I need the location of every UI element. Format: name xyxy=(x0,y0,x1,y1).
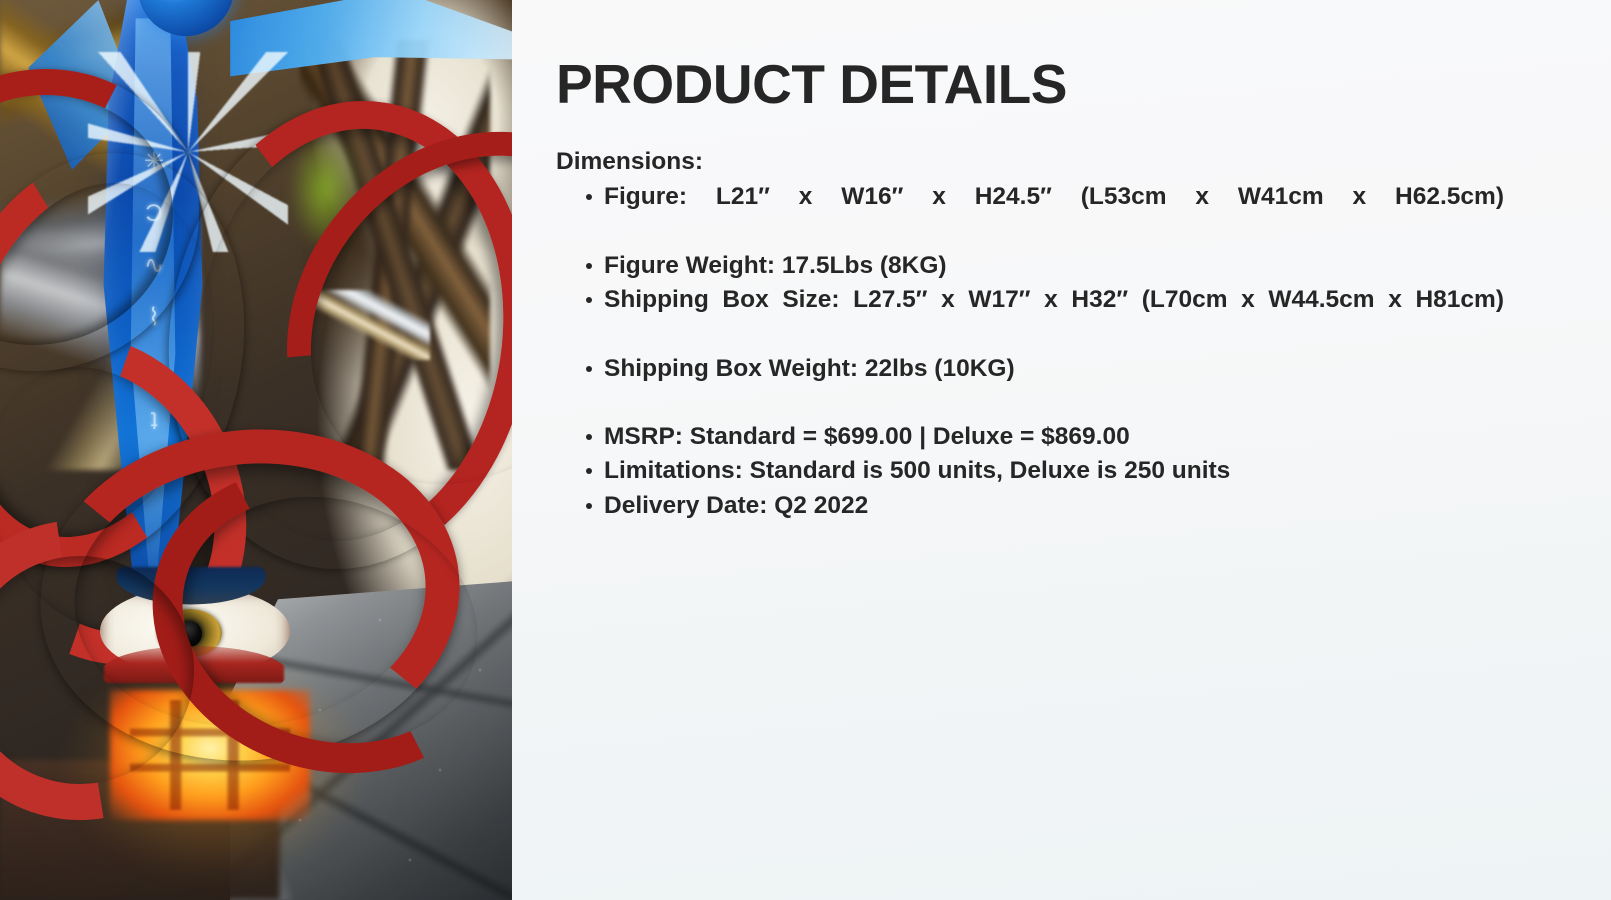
bullet-dot xyxy=(586,503,592,509)
dimensions-label: Dimensions: xyxy=(556,148,1511,176)
list-spacer xyxy=(556,387,1504,420)
dimensions-bullet-list: Figure: L21″ x W16″ x H24.5″ (L53cm x W4… xyxy=(556,180,1504,420)
list-item: Figure: L21″ x W16″ x H24.5″ (L53cm x W4… xyxy=(556,180,1504,249)
details-panel: PRODUCT DETAILS Dimensions: Figure: L21″… xyxy=(512,0,1611,900)
list-item-label: Figure: L21″ x W16″ x H24.5″ (L53cm x W4… xyxy=(604,180,1504,249)
list-item: MSRP: Standard = $699.00 | Deluxe = $869… xyxy=(556,420,1504,455)
list-item-label: Shipping Box Weight: 22lbs (10KG) xyxy=(604,352,1504,387)
slide-root: ✳ Ɔ ∿ ⌇ ɔ ʇ xyxy=(0,0,1611,900)
list-item-label: Shipping Box Size: L27.5″ x W17″ x H32″ … xyxy=(604,283,1504,352)
list-item: Shipping Box Size: L27.5″ x W17″ x H32″ … xyxy=(556,283,1504,352)
list-item-label: Delivery Date: Q2 2022 xyxy=(604,489,1504,524)
product-photo: ✳ Ɔ ∿ ⌇ ɔ ʇ xyxy=(0,0,512,900)
bullet-dot xyxy=(586,194,592,200)
list-item-label: Figure Weight: 17.5Lbs (8KG) xyxy=(604,249,1504,284)
list-item-label: MSRP: Standard = $699.00 | Deluxe = $869… xyxy=(604,420,1504,455)
bullet-dot xyxy=(586,263,592,269)
list-item: Delivery Date: Q2 2022 xyxy=(556,489,1504,524)
commercial-bullet-list: MSRP: Standard = $699.00 | Deluxe = $869… xyxy=(556,420,1504,524)
page-title: PRODUCT DETAILS xyxy=(556,56,1511,114)
bullet-dot xyxy=(586,297,592,303)
list-item: Limitations: Standard is 500 units, Delu… xyxy=(556,454,1504,489)
bullet-dot xyxy=(586,366,592,372)
bullet-dot xyxy=(586,468,592,474)
list-item: Shipping Box Weight: 22lbs (10KG) xyxy=(556,352,1504,387)
list-item: Figure Weight: 17.5Lbs (8KG) xyxy=(556,249,1504,284)
list-item-label: Limitations: Standard is 500 units, Delu… xyxy=(604,454,1504,489)
bullet-dot xyxy=(586,434,592,440)
